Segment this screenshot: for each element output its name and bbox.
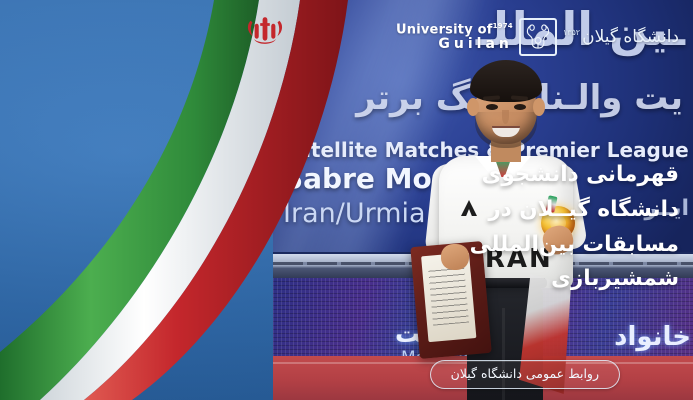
page-title: قهرمانی دانشجوی دانشگاه گیــلان در مسابق…: [469, 158, 679, 297]
athlete-nose: [502, 110, 509, 124]
headline-line-3: مسابقات بین‌المللی: [469, 228, 679, 263]
sponsor-label-right-persian: خانواد: [614, 322, 691, 352]
logo-persian-text: دانشگاه گیلان: [582, 27, 679, 47]
logo-year-superscript: 1974: [493, 22, 513, 30]
athlete-hand-left: [441, 244, 469, 270]
athlete-hair: [470, 60, 542, 102]
logo-persian-year: ۱۳۵۲: [563, 28, 580, 37]
logo-persian-name: دانشگاه گیلان۱۳۵۲: [563, 29, 679, 46]
logo-english-line2: Guilan: [396, 37, 513, 52]
university-logo[interactable]: دانشگاه گیلان۱۳۵۲ University of1974 Guil…: [396, 18, 679, 56]
headline-line-2: دانشگاه گیــلان در: [469, 193, 679, 228]
athlete-eye-left: [486, 104, 498, 110]
athlete-ear-left: [467, 98, 479, 116]
athlete-ear-right: [533, 98, 545, 116]
headline-line-4: شمشیربازی: [469, 262, 679, 297]
guilan-university-emblem: [519, 18, 557, 56]
public-relations-badge[interactable]: روابط عمومی دانشگاه گیلان: [430, 360, 620, 389]
news-banner: ـین المللـ یت والـنال لیگ برتر Satellite…: [0, 0, 693, 400]
athlete-eye-right: [514, 104, 526, 110]
logo-university-word: University of: [396, 22, 493, 37]
backdrop-english-line-3: Iran/Urmia: [283, 198, 426, 229]
logo-english-line1: University of1974: [396, 23, 513, 37]
logo-english-name: University of1974 Guilan: [396, 23, 513, 52]
headline-line-1: قهرمانی دانشجوی: [469, 158, 679, 193]
